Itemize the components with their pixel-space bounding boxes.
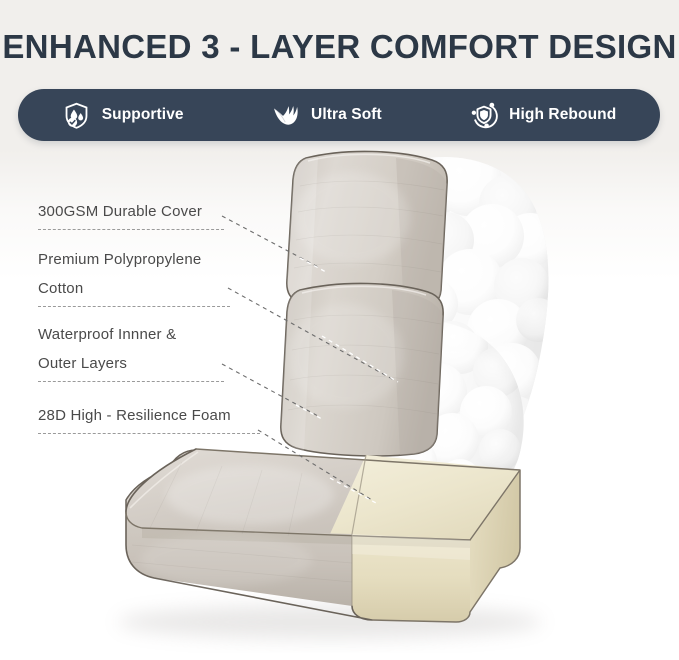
callout-cotton: Premium Polypropylene Cotton: [38, 245, 230, 307]
callout-line: Premium Polypropylene: [38, 251, 201, 268]
leader-cotton: [228, 288, 394, 380]
seat-cushion: [126, 449, 520, 622]
leader-foam: [258, 430, 372, 500]
leader-cotton-tip: [322, 336, 398, 382]
infographic-canvas: ENHANCED 3 - LAYER COMFORT DESIGN Suppor…: [0, 0, 679, 660]
shield-droplet-check-icon: [62, 100, 92, 130]
callout-line: Waterproof Innner &: [38, 326, 176, 343]
badge-high-rebound: High Rebound: [465, 100, 620, 130]
badge-label: High Rebound: [509, 106, 616, 124]
leader-layers-tip: [296, 405, 322, 419]
feather-icon: [271, 100, 301, 130]
callout-underline: [38, 306, 230, 307]
callout-line: 28D High - Resilience Foam: [38, 407, 231, 424]
callout-line: 300GSM Durable Cover: [38, 203, 202, 220]
leader-foam-tip: [330, 478, 376, 503]
badge-label: Ultra Soft: [311, 106, 382, 124]
callout-line: Cotton: [38, 280, 83, 297]
callout-foam: 28D High - Resilience Foam: [38, 401, 260, 434]
fiberfill-layer: [376, 148, 560, 501]
callout-layers: Waterproof Innner & Outer Layers: [38, 320, 224, 382]
leader-cover-tip: [300, 258, 326, 272]
backrest-upper-cushion: [287, 151, 447, 312]
callout-underline: [38, 229, 224, 230]
callout-underline: [38, 433, 260, 434]
leader-lines: [222, 216, 398, 503]
badge-supportive: Supportive: [58, 100, 188, 130]
badge-label: Supportive: [102, 106, 184, 124]
feature-banner: Supportive Ultra Soft: [18, 89, 660, 141]
backrest-lower-cushion: [281, 283, 443, 456]
callout-line: Outer Layers: [38, 355, 127, 372]
page-title: ENHANCED 3 - LAYER COMFORT DESIGN: [0, 28, 679, 66]
leader-cover: [222, 216, 320, 268]
callout-underline: [38, 381, 224, 382]
badge-ultra-soft: Ultra Soft: [267, 100, 386, 130]
shield-orbit-icon: [469, 100, 499, 130]
callout-cover: 300GSM Durable Cover: [38, 197, 224, 230]
